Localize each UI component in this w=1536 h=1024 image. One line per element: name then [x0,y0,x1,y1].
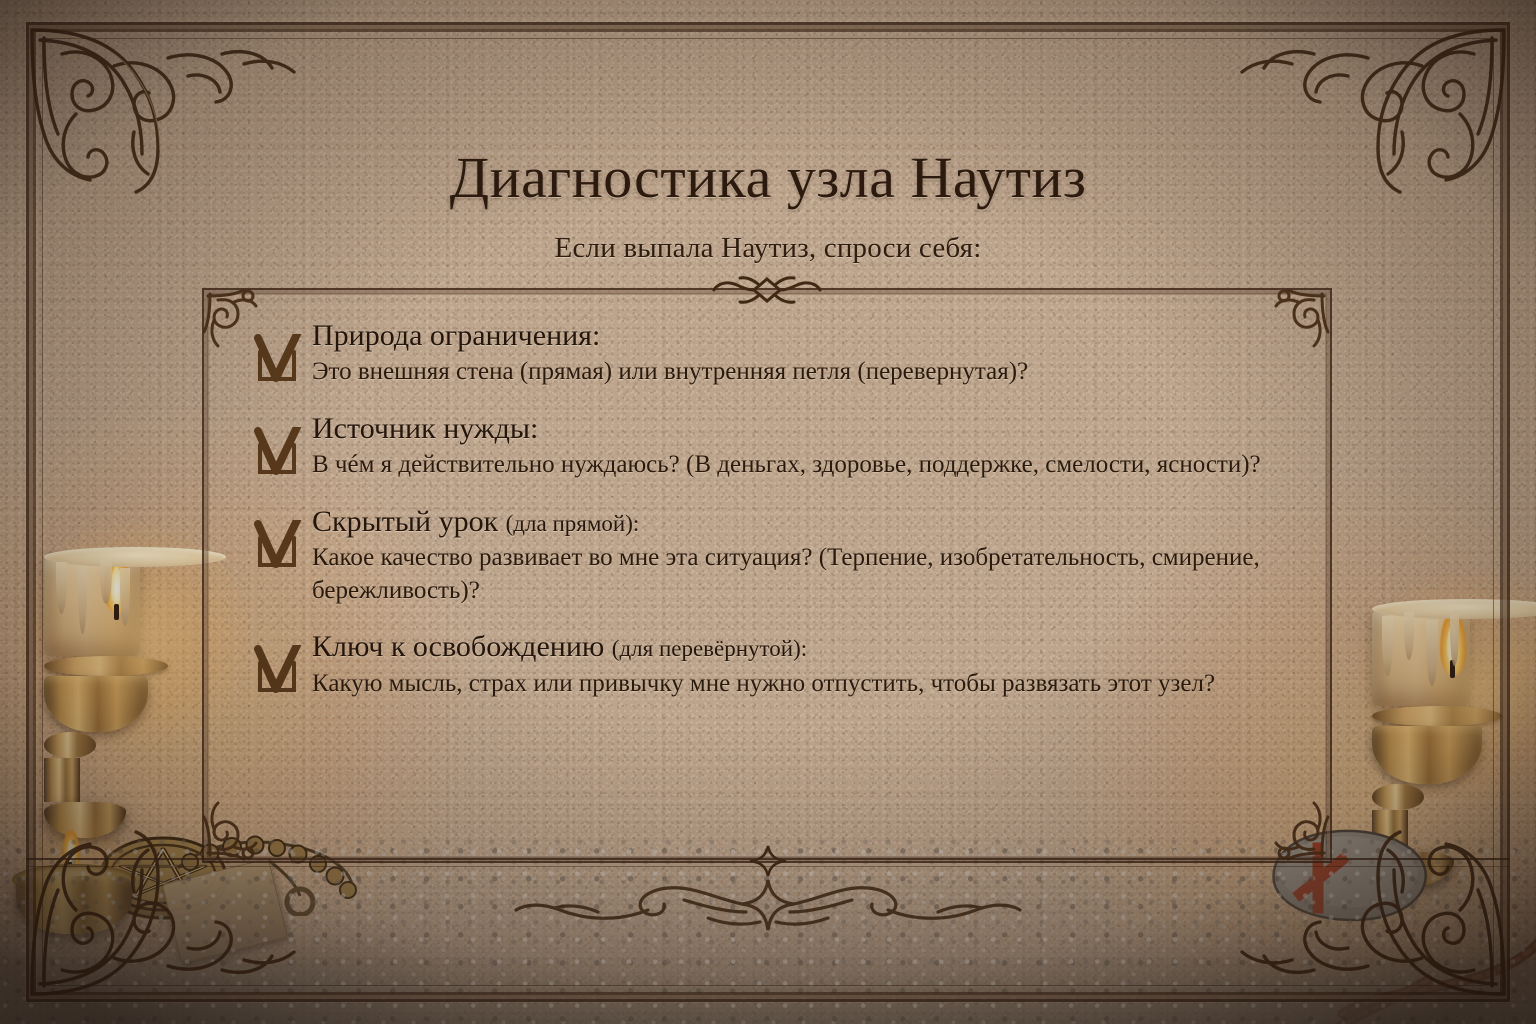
list-item: Природа ограничения: Это внешняя стена (… [250,318,1290,389]
checkbox-check-icon[interactable] [254,427,304,479]
list-item-heading: Скрытый урок (дла прямой): [312,504,1290,539]
list-item-body: Это внешняя стена (прямая) или внутрення… [312,356,1290,389]
list-item-heading-text: Скрытый урок [312,505,498,538]
list-item-qualifier: (дла прямой): [506,511,640,536]
list-item: Ключ к освобождению (для перевёрнутой): … [250,629,1290,700]
list-item: Скрытый урок (дла прямой): Какое качеств… [250,504,1290,607]
checklist: Природа ограничения: Это внешняя стена (… [250,318,1290,722]
list-item-body: Какое качество развивает во мне эта ситу… [312,542,1290,607]
list-item-heading: Природа ограничения: [312,318,1290,353]
list-item-heading-text: Природа ограничения: [312,319,600,352]
page-subtitle: Если выпала Наутиз, спроси себя: [0,232,1536,265]
rune-diagnostic-card: Диагностика узла Наутиз Если выпала Наут… [0,0,1536,1024]
list-item-body: В чéм я действительно нуждаюсь? (В деньг… [312,449,1290,482]
list-item-body: Какую мысль, страх или привычку мне нужн… [312,668,1290,701]
checkbox-check-icon[interactable] [254,645,304,697]
checkbox-check-icon[interactable] [254,334,304,386]
checkbox-check-icon[interactable] [254,520,304,572]
list-item: Источник нужды: В чéм я действительно ну… [250,411,1290,482]
list-item-heading-text: Ключ к освобождению [312,630,604,663]
list-item-heading: Ключ к освобождению (для перевёрнутой): [312,629,1290,664]
list-item-heading-text: Источник нужды: [312,412,538,445]
page-title: Диагностика узла Наутиз [0,148,1536,209]
list-item-heading: Источник нужды: [312,411,1290,446]
list-item-qualifier: (для перевёрнутой): [612,636,807,661]
